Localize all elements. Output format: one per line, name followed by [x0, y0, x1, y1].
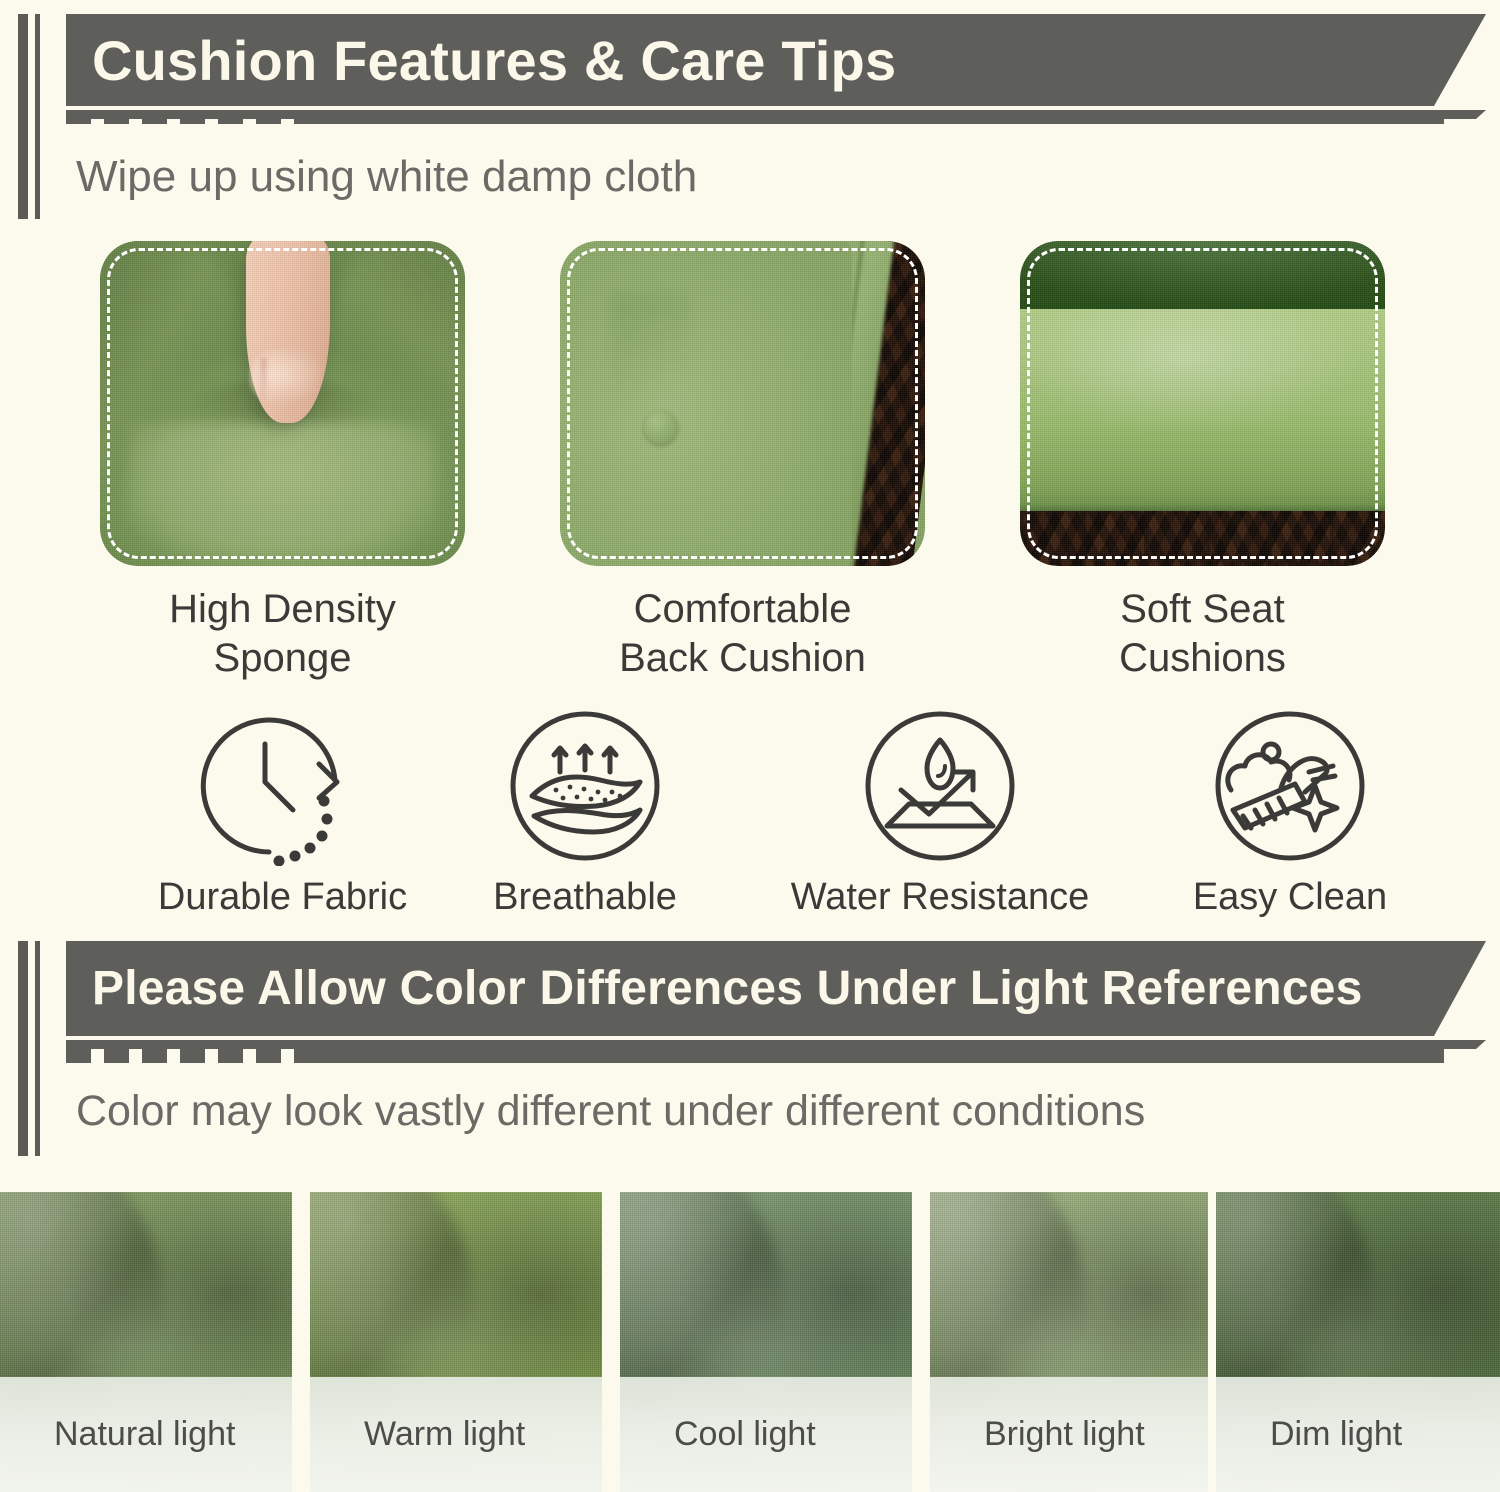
caption-comfortable-back-cushion: Comfortable Back Cushion: [560, 585, 925, 683]
fabric-weave-texture: [560, 241, 925, 566]
swatch-label-warm-light: Warm light: [310, 1415, 525, 1454]
feature-easy-clean: Easy Clean: [1140, 706, 1440, 919]
swatch-label-bright-light: Bright light: [930, 1415, 1145, 1454]
rule-dash: [218, 110, 243, 124]
rule-dashes: [66, 1049, 281, 1063]
rule-dash: [180, 1049, 205, 1063]
caption-line-1: Comfortable: [560, 585, 925, 634]
rule-dash: [104, 110, 129, 124]
feature-water-resistance: Water Resistance: [765, 706, 1115, 919]
photo-image-hand-pressing-cushion: [100, 241, 465, 566]
swatch-label-band: Natural light: [0, 1377, 292, 1492]
rule-dash: [256, 110, 281, 124]
caption-line-2: Back Cushion: [560, 634, 925, 683]
rule-solid: [294, 1049, 1444, 1063]
rule-dash: [66, 1049, 91, 1063]
caption-line-1: High Density: [100, 585, 465, 634]
dashed-rule-bottom: [66, 1049, 1456, 1063]
section-title-cushion-features: Cushion Features & Care Tips: [92, 28, 896, 93]
banner-shape: Please Allow Color Differences Under Lig…: [66, 941, 1486, 1036]
swatch-label-band: Bright light: [930, 1377, 1208, 1492]
swatch-label-band: Dim light: [1216, 1377, 1500, 1492]
swatch-dim-light: Dim light: [1216, 1192, 1500, 1492]
infographic-page: Cushion Features & Care Tips Wipe up usi…: [0, 0, 1500, 1492]
rule-dash: [104, 1049, 129, 1063]
feature-label-easy-clean: Easy Clean: [1140, 876, 1440, 919]
swatch-warm-light: Warm light: [310, 1192, 602, 1492]
swatch-label-band: Cool light: [620, 1377, 912, 1492]
swatch-bright-light: Bright light: [930, 1192, 1208, 1492]
swatch-cool-light: Cool light: [620, 1192, 912, 1492]
swatch-natural-light: Natural light: [0, 1192, 292, 1492]
clock-arrow-durable-icon: [193, 706, 373, 866]
feature-label-breathable: Breathable: [455, 876, 715, 919]
caption-line-2: Sponge: [100, 634, 465, 683]
subhead-wipe-instruction: Wipe up using white damp cloth: [76, 152, 697, 202]
swatch-label-cool-light: Cool light: [620, 1415, 816, 1454]
caption-line-1: Soft Seat: [1020, 585, 1385, 634]
photo-image-tufted-back-cushion: [560, 241, 925, 566]
swatch-label-dim-light: Dim light: [1216, 1415, 1402, 1454]
feature-breathable: Breathable: [455, 706, 715, 919]
photo-card-soft-seat-cushions: [1020, 241, 1385, 566]
caption-soft-seat-cushions: Soft Seat Cushions: [1020, 585, 1385, 683]
fabric-weave-texture: [1020, 241, 1385, 566]
breathable-layers-icon: [504, 706, 666, 866]
banner-underbar: [66, 1040, 1486, 1049]
brush-sparkle-clean-icon: [1209, 706, 1371, 866]
feature-durable-fabric: Durable Fabric: [95, 706, 470, 919]
photo-card-high-density-sponge: [100, 241, 465, 566]
caption-high-density-sponge: High Density Sponge: [100, 585, 465, 683]
rule-dash: [180, 110, 205, 124]
swatch-label-natural-light: Natural light: [0, 1415, 235, 1454]
section-header-color-differences: Please Allow Color Differences Under Lig…: [66, 941, 1486, 1049]
banner-shape: Cushion Features & Care Tips: [66, 14, 1486, 106]
caption-line-2: Cushions: [1020, 634, 1385, 683]
section-rail-top: [18, 14, 40, 219]
rail-thick: [18, 14, 28, 219]
photo-image-seat-cushion-wicker: [1020, 241, 1385, 566]
rule-dashes: [66, 110, 281, 124]
rule-dash: [142, 110, 167, 124]
section-title-color-differences: Please Allow Color Differences Under Lig…: [92, 961, 1363, 1016]
rule-solid: [294, 110, 1444, 124]
photo-card-comfortable-back-cushion: [560, 241, 925, 566]
subhead-color-conditions: Color may look vastly different under di…: [76, 1087, 1145, 1136]
feature-label-water-resistance: Water Resistance: [765, 876, 1115, 919]
rule-dash: [66, 110, 91, 124]
rule-dash: [142, 1049, 167, 1063]
fabric-weave-texture: [100, 241, 465, 566]
water-droplet-repel-icon: [859, 706, 1021, 866]
rail-thin: [35, 941, 40, 1156]
rule-dash: [256, 1049, 281, 1063]
rule-dash: [218, 1049, 243, 1063]
section-header-cushion-features: Cushion Features & Care Tips: [66, 14, 1486, 119]
swatch-label-band: Warm light: [310, 1377, 602, 1492]
rail-thick: [18, 941, 28, 1156]
feature-label-durable-fabric: Durable Fabric: [95, 876, 470, 919]
dashed-rule-top: [66, 110, 1456, 124]
rail-thin: [35, 14, 40, 219]
section-rail-bottom: [18, 941, 40, 1156]
